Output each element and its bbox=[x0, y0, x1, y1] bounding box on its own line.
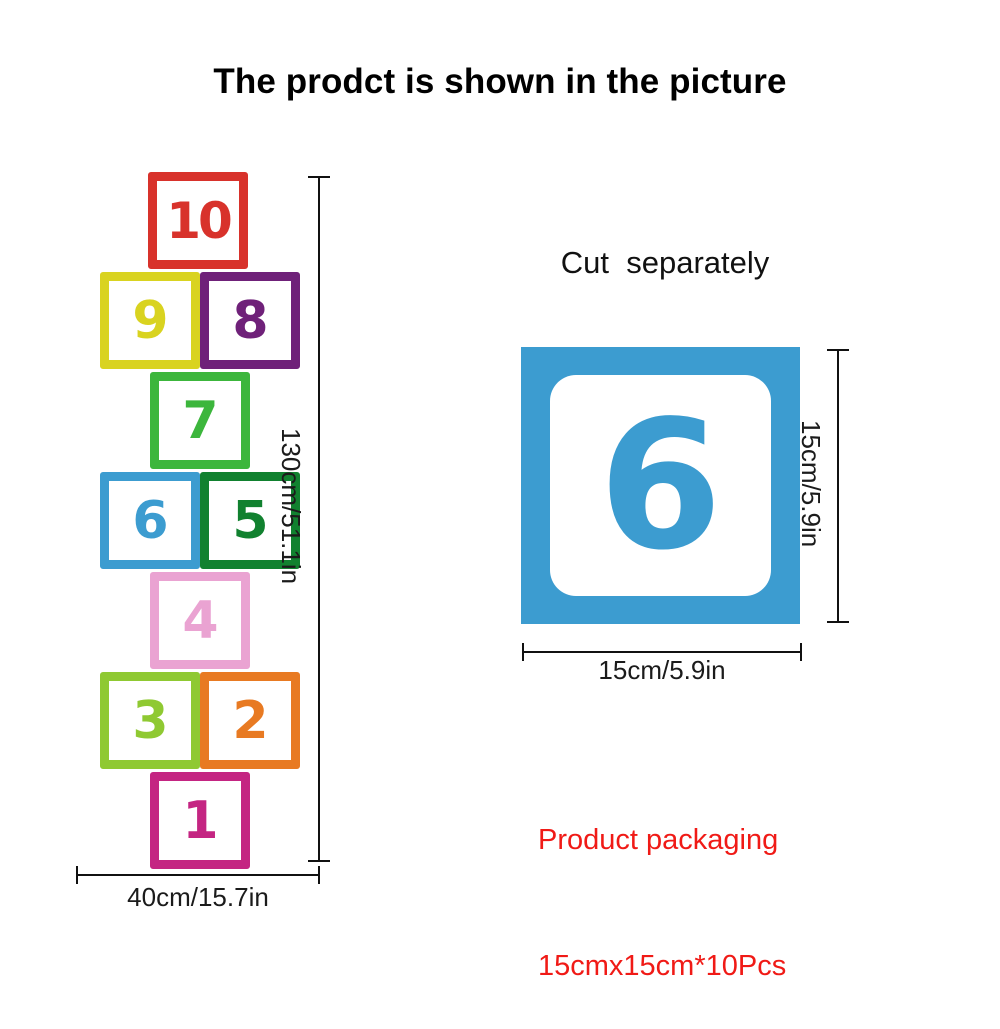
hopscotch-tile-face-10: 10 bbox=[157, 181, 239, 260]
hopscotch-tile-number-7: 7 bbox=[182, 395, 217, 447]
single-tile-number: 6 bbox=[599, 397, 723, 575]
hopscotch-tile-number-4: 4 bbox=[182, 595, 217, 647]
hopscotch-tile-face-1: 1 bbox=[159, 781, 241, 860]
hopscotch-tile-number-9: 9 bbox=[132, 295, 167, 347]
hopscotch-height-tick-bottom bbox=[308, 860, 330, 862]
hopscotch-tile-10: 10 bbox=[148, 172, 248, 269]
hopscotch-tile-face-2: 2 bbox=[209, 681, 291, 760]
hopscotch-tile-6: 6 bbox=[100, 472, 200, 569]
hopscotch-tile-number-3: 3 bbox=[132, 695, 167, 747]
hopscotch-tile-number-6: 6 bbox=[132, 495, 167, 547]
hopscotch-tile-face-6: 6 bbox=[109, 481, 191, 560]
hopscotch-tile-number-5: 5 bbox=[232, 495, 267, 547]
hopscotch-height-label: 130cm/51.1in bbox=[275, 428, 306, 584]
tile-height-label: 15cm/5.9in bbox=[795, 420, 826, 547]
packaging-note: Product packaging 15cmx15cm*10Pcs bbox=[538, 735, 786, 1029]
hopscotch-tile-8: 8 bbox=[200, 272, 300, 369]
hopscotch-tile-2: 2 bbox=[200, 672, 300, 769]
hopscotch-width-dimension-line bbox=[76, 874, 320, 876]
hopscotch-tile-face-4: 4 bbox=[159, 581, 241, 660]
hopscotch-tile-number-2: 2 bbox=[232, 695, 267, 747]
hopscotch-height-tick-top bbox=[308, 176, 330, 178]
tile-width-dimension-line bbox=[522, 651, 802, 653]
hopscotch-tile-face-3: 3 bbox=[109, 681, 191, 760]
single-tile-face: 6 bbox=[550, 375, 771, 596]
tile-width-label: 15cm/5.9in bbox=[522, 655, 802, 686]
hopscotch-tile-number-10: 10 bbox=[166, 196, 230, 246]
hopscotch-width-label: 40cm/15.7in bbox=[76, 882, 320, 913]
tile-height-tick-bottom bbox=[827, 621, 849, 623]
tile-height-dimension-line bbox=[837, 349, 839, 623]
hopscotch-tile-9: 9 bbox=[100, 272, 200, 369]
packaging-note-line-1: Product packaging bbox=[538, 819, 786, 861]
hopscotch-tile-face-7: 7 bbox=[159, 381, 241, 460]
hopscotch-height-dimension-line bbox=[318, 176, 320, 862]
single-tile-illustration: 6 bbox=[521, 347, 800, 624]
hopscotch-tile-number-1: 1 bbox=[182, 795, 217, 847]
hopscotch-tile-face-9: 9 bbox=[109, 281, 191, 360]
packaging-note-line-2: 15cmx15cm*10Pcs bbox=[538, 945, 786, 987]
hopscotch-tile-1: 1 bbox=[150, 772, 250, 869]
hopscotch-tile-number-8: 8 bbox=[232, 295, 267, 347]
cut-separately-heading: Cut separately bbox=[520, 245, 810, 281]
hopscotch-tile-face-8: 8 bbox=[209, 281, 291, 360]
hopscotch-tile-4: 4 bbox=[150, 572, 250, 669]
hopscotch-tile-7: 7 bbox=[150, 372, 250, 469]
tile-height-tick-top bbox=[827, 349, 849, 351]
hopscotch-tile-3: 3 bbox=[100, 672, 200, 769]
hopscotch-grid-illustration: 10987654321 bbox=[0, 0, 360, 1000]
